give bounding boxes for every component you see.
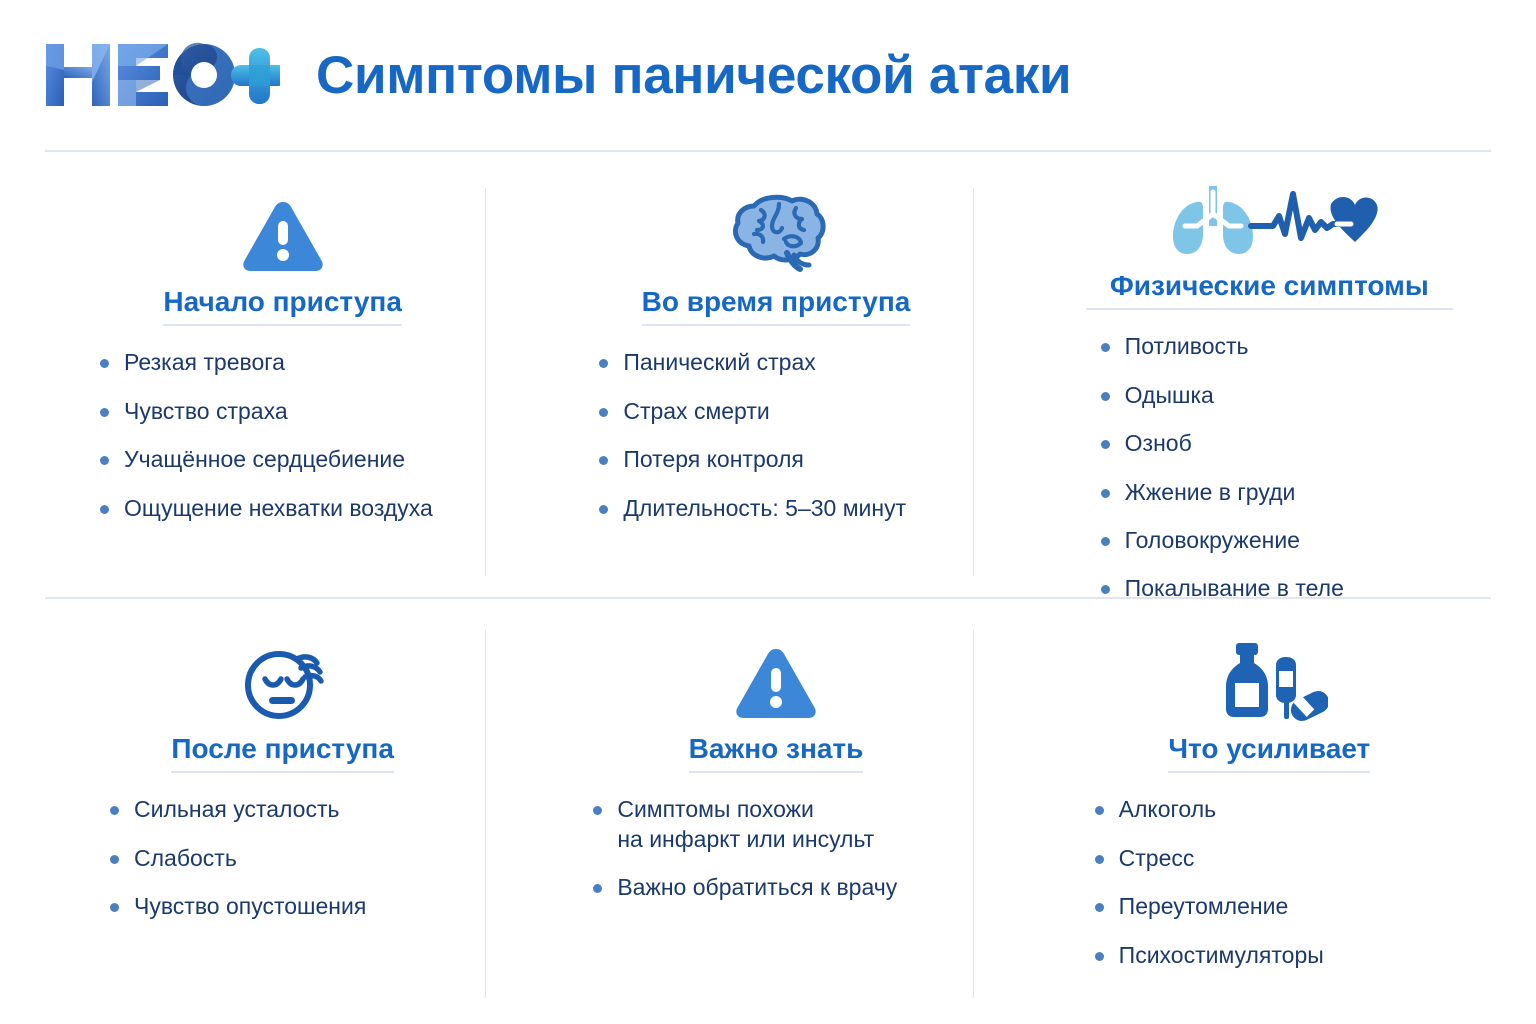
list-item: Важно обратиться к врачу [591,873,1064,902]
list-item: Чувство страха [98,397,571,426]
lungs-ecg-heart-icon [1151,182,1387,258]
list-item: Потеря контроля [597,445,1070,474]
list-item: Озноб [1099,429,1536,458]
list-item: Алкоголь [1093,795,1536,824]
card-icon [240,182,326,274]
list-item: Сильная усталость [108,795,581,824]
card-vo-vremya-pristupa: Во время приступа Панический страх Страх… [529,152,1022,597]
card-title: Физические симптомы [1086,270,1453,310]
list-item: Психостимуляторы [1093,941,1536,970]
list-item: Жжение в груди [1099,478,1536,507]
list-item: Учащённое сердцебиение [98,445,571,474]
card-icon [1151,182,1387,258]
list-item: Резкая тревога [98,348,571,377]
card-posle-pristupa: После приступа Сильная усталость Слабост… [0,599,529,1019]
brain-icon [724,192,828,274]
card-title: После приступа [171,733,393,773]
bottle-syringe-pill-icon [1210,639,1328,721]
card-nachalo-pristupa: Начало приступа Резкая тревога Чувство с… [0,152,529,597]
list-item: Страх смерти [597,397,1070,426]
card-list: Резкая тревога Чувство страха Учащённое … [46,348,571,542]
list-item: Ощущение нехватки воздуха [98,494,571,523]
list-item: Головокружение [1099,526,1536,555]
list-item: Стресс [1093,844,1536,873]
list-item-line: Симптомы похожи [617,796,814,822]
neo-plus-logo [40,36,280,114]
list-item: Чувство опустошения [108,892,581,921]
card-list: Сильная усталость Слабость Чувство опуст… [46,795,581,940]
page-title: Симптомы панической атаки [316,49,1071,102]
card-icon [1210,629,1328,721]
list-item: Слабость [108,844,581,873]
card-list: Потливость Одышка Озноб Жжение в груди Г… [1033,332,1536,623]
card-list: Алкоголь Стресс Переутомление Психостиму… [1033,795,1536,989]
warning-triangle-icon [240,198,326,274]
card-title: Начало приступа [163,286,402,326]
list-item: Потливость [1099,332,1536,361]
list-item: Длительность: 5–30 минут [597,494,1070,523]
card-fizicheskie-simptomy: Физические симптомы Потливость Одышка Оз… [1023,152,1536,597]
warning-triangle-icon [733,645,819,721]
list-item: Симптомы похожи на инфаркт или инсульт [591,795,1064,854]
cards-row-bottom: После приступа Сильная усталость Слабост… [0,599,1536,1019]
cards-row-top: Начало приступа Резкая тревога Чувство с… [0,152,1536,597]
card-title: Во время приступа [642,286,911,326]
tired-face-icon [239,641,327,721]
card-icon [733,629,819,721]
cards-grid: Начало приступа Резкая тревога Чувство с… [0,152,1536,1024]
card-list: Панический страх Страх смерти Потеря кон… [539,348,1070,542]
card-vazhno-znat: Важно знать Симптомы похожи на инфаркт и… [529,599,1022,1019]
card-list: Симптомы похожи на инфаркт или инсульт В… [539,795,1064,921]
list-item: Панический страх [597,348,1070,377]
list-item-line: на инфаркт или инсульт [617,825,1064,854]
card-title: Что усиливает [1168,733,1370,773]
list-item: Переутомление [1093,892,1536,921]
card-chto-usilivaet: Что усиливает Алкоголь Стресс Переутомле… [1023,599,1536,1019]
page-header: Симптомы панической атаки [0,0,1536,150]
card-icon [239,629,327,721]
card-title: Важно знать [689,733,864,773]
list-item: Одышка [1099,381,1536,410]
card-icon [724,182,828,274]
